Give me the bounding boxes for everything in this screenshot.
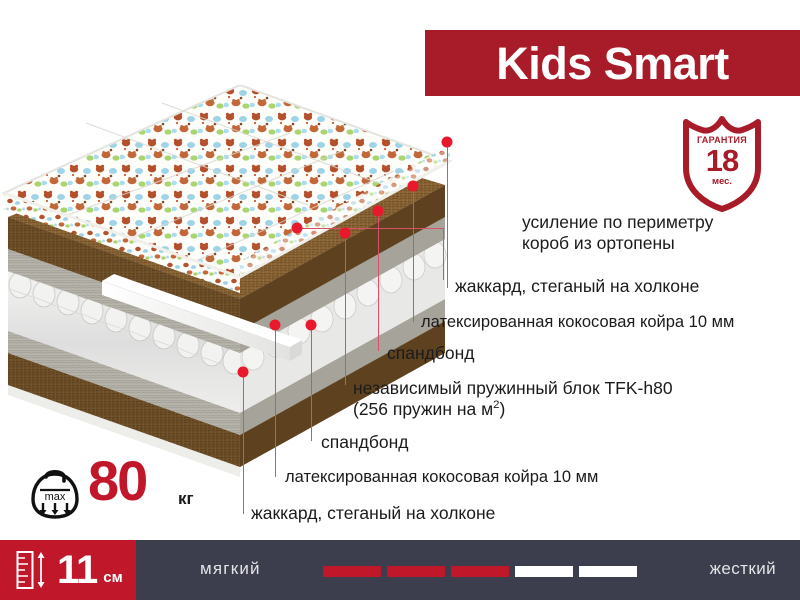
callout-label-spunbond-bottom: спандбонд bbox=[321, 432, 408, 453]
leader-line-perimeter bbox=[296, 228, 444, 229]
leader-line-jacquard-bottom bbox=[243, 372, 244, 514]
callout-label-spring-block: независимый пружинный блок TFK-h80 (256 … bbox=[353, 378, 673, 419]
callout-label-jacquard-top: жаккард, стеганый на холконе bbox=[455, 276, 699, 297]
callout-label-coir-bottom: латексированная кокосовая койра 10 мм bbox=[285, 468, 598, 487]
spring-count-line: (256 пружин на м2) bbox=[353, 399, 673, 420]
height-unit: см bbox=[103, 569, 122, 586]
max-weight-value: 80 bbox=[88, 453, 146, 509]
leader-line-spring-block bbox=[345, 233, 346, 385]
callout-label-jacquard-bottom: жаккард, стеганый на холконе bbox=[251, 503, 495, 524]
callout-dot-spunbond-bottom bbox=[306, 320, 317, 331]
firmness-segment-3 bbox=[451, 566, 509, 577]
mattress-cutaway-illustration bbox=[0, 85, 510, 500]
firmness-segment-2 bbox=[387, 566, 445, 577]
callout-label-spunbond-top: спандбонд bbox=[387, 343, 474, 364]
ruler-icon bbox=[16, 550, 50, 590]
callout-label-coir-top: латексированная кокосовая койра 10 мм bbox=[421, 313, 734, 332]
leader-line-coir-bottom bbox=[275, 325, 276, 477]
warranty-badge: ГАРАНТИЯ 18 мес. bbox=[672, 116, 772, 212]
callout-dot-perimeter bbox=[292, 223, 303, 234]
page-title: Kids Smart bbox=[496, 41, 729, 86]
max-weight-block: max 80 кг bbox=[28, 462, 208, 524]
callout-dot-spring-block bbox=[340, 228, 351, 239]
height-value: 11 bbox=[57, 550, 97, 590]
warranty-value: 18 bbox=[672, 145, 772, 176]
height-block: 11 см bbox=[0, 540, 136, 600]
firmness-hard-label: жесткий bbox=[710, 559, 776, 579]
callout-dot-jacquard-top bbox=[442, 137, 453, 148]
product-infographic: Kids Smart ГАРАНТИЯ 18 мес. bbox=[0, 0, 800, 600]
leader-line-coir-top bbox=[413, 186, 414, 322]
warranty-unit: мес. bbox=[672, 177, 772, 187]
bottom-bar: 11 см мягкий жесткий bbox=[0, 540, 800, 600]
firmness-segment-5 bbox=[579, 566, 637, 577]
leader-line-spunbond-bottom bbox=[311, 325, 312, 441]
leader-line-jacquard-top bbox=[447, 142, 448, 288]
firmness-soft-label: мягкий bbox=[200, 559, 261, 579]
kettlebell-icon: max bbox=[28, 464, 82, 520]
kettlebell-max-text: max bbox=[45, 491, 66, 503]
firmness-segment-1 bbox=[323, 566, 381, 577]
firmness-segment-4 bbox=[515, 566, 573, 577]
callout-dot-spunbond-top bbox=[373, 206, 384, 217]
callout-dot-jacquard-bottom bbox=[238, 367, 249, 378]
leader-line-perimeter-v bbox=[443, 228, 444, 280]
leader-line-spunbond-top bbox=[378, 211, 379, 351]
callout-label-perimeter: усиление по периметру короб из ортопены bbox=[522, 212, 713, 253]
callout-dot-coir-top bbox=[408, 181, 419, 192]
callout-dot-coir-bottom bbox=[270, 320, 281, 331]
max-weight-unit: кг bbox=[178, 489, 194, 509]
